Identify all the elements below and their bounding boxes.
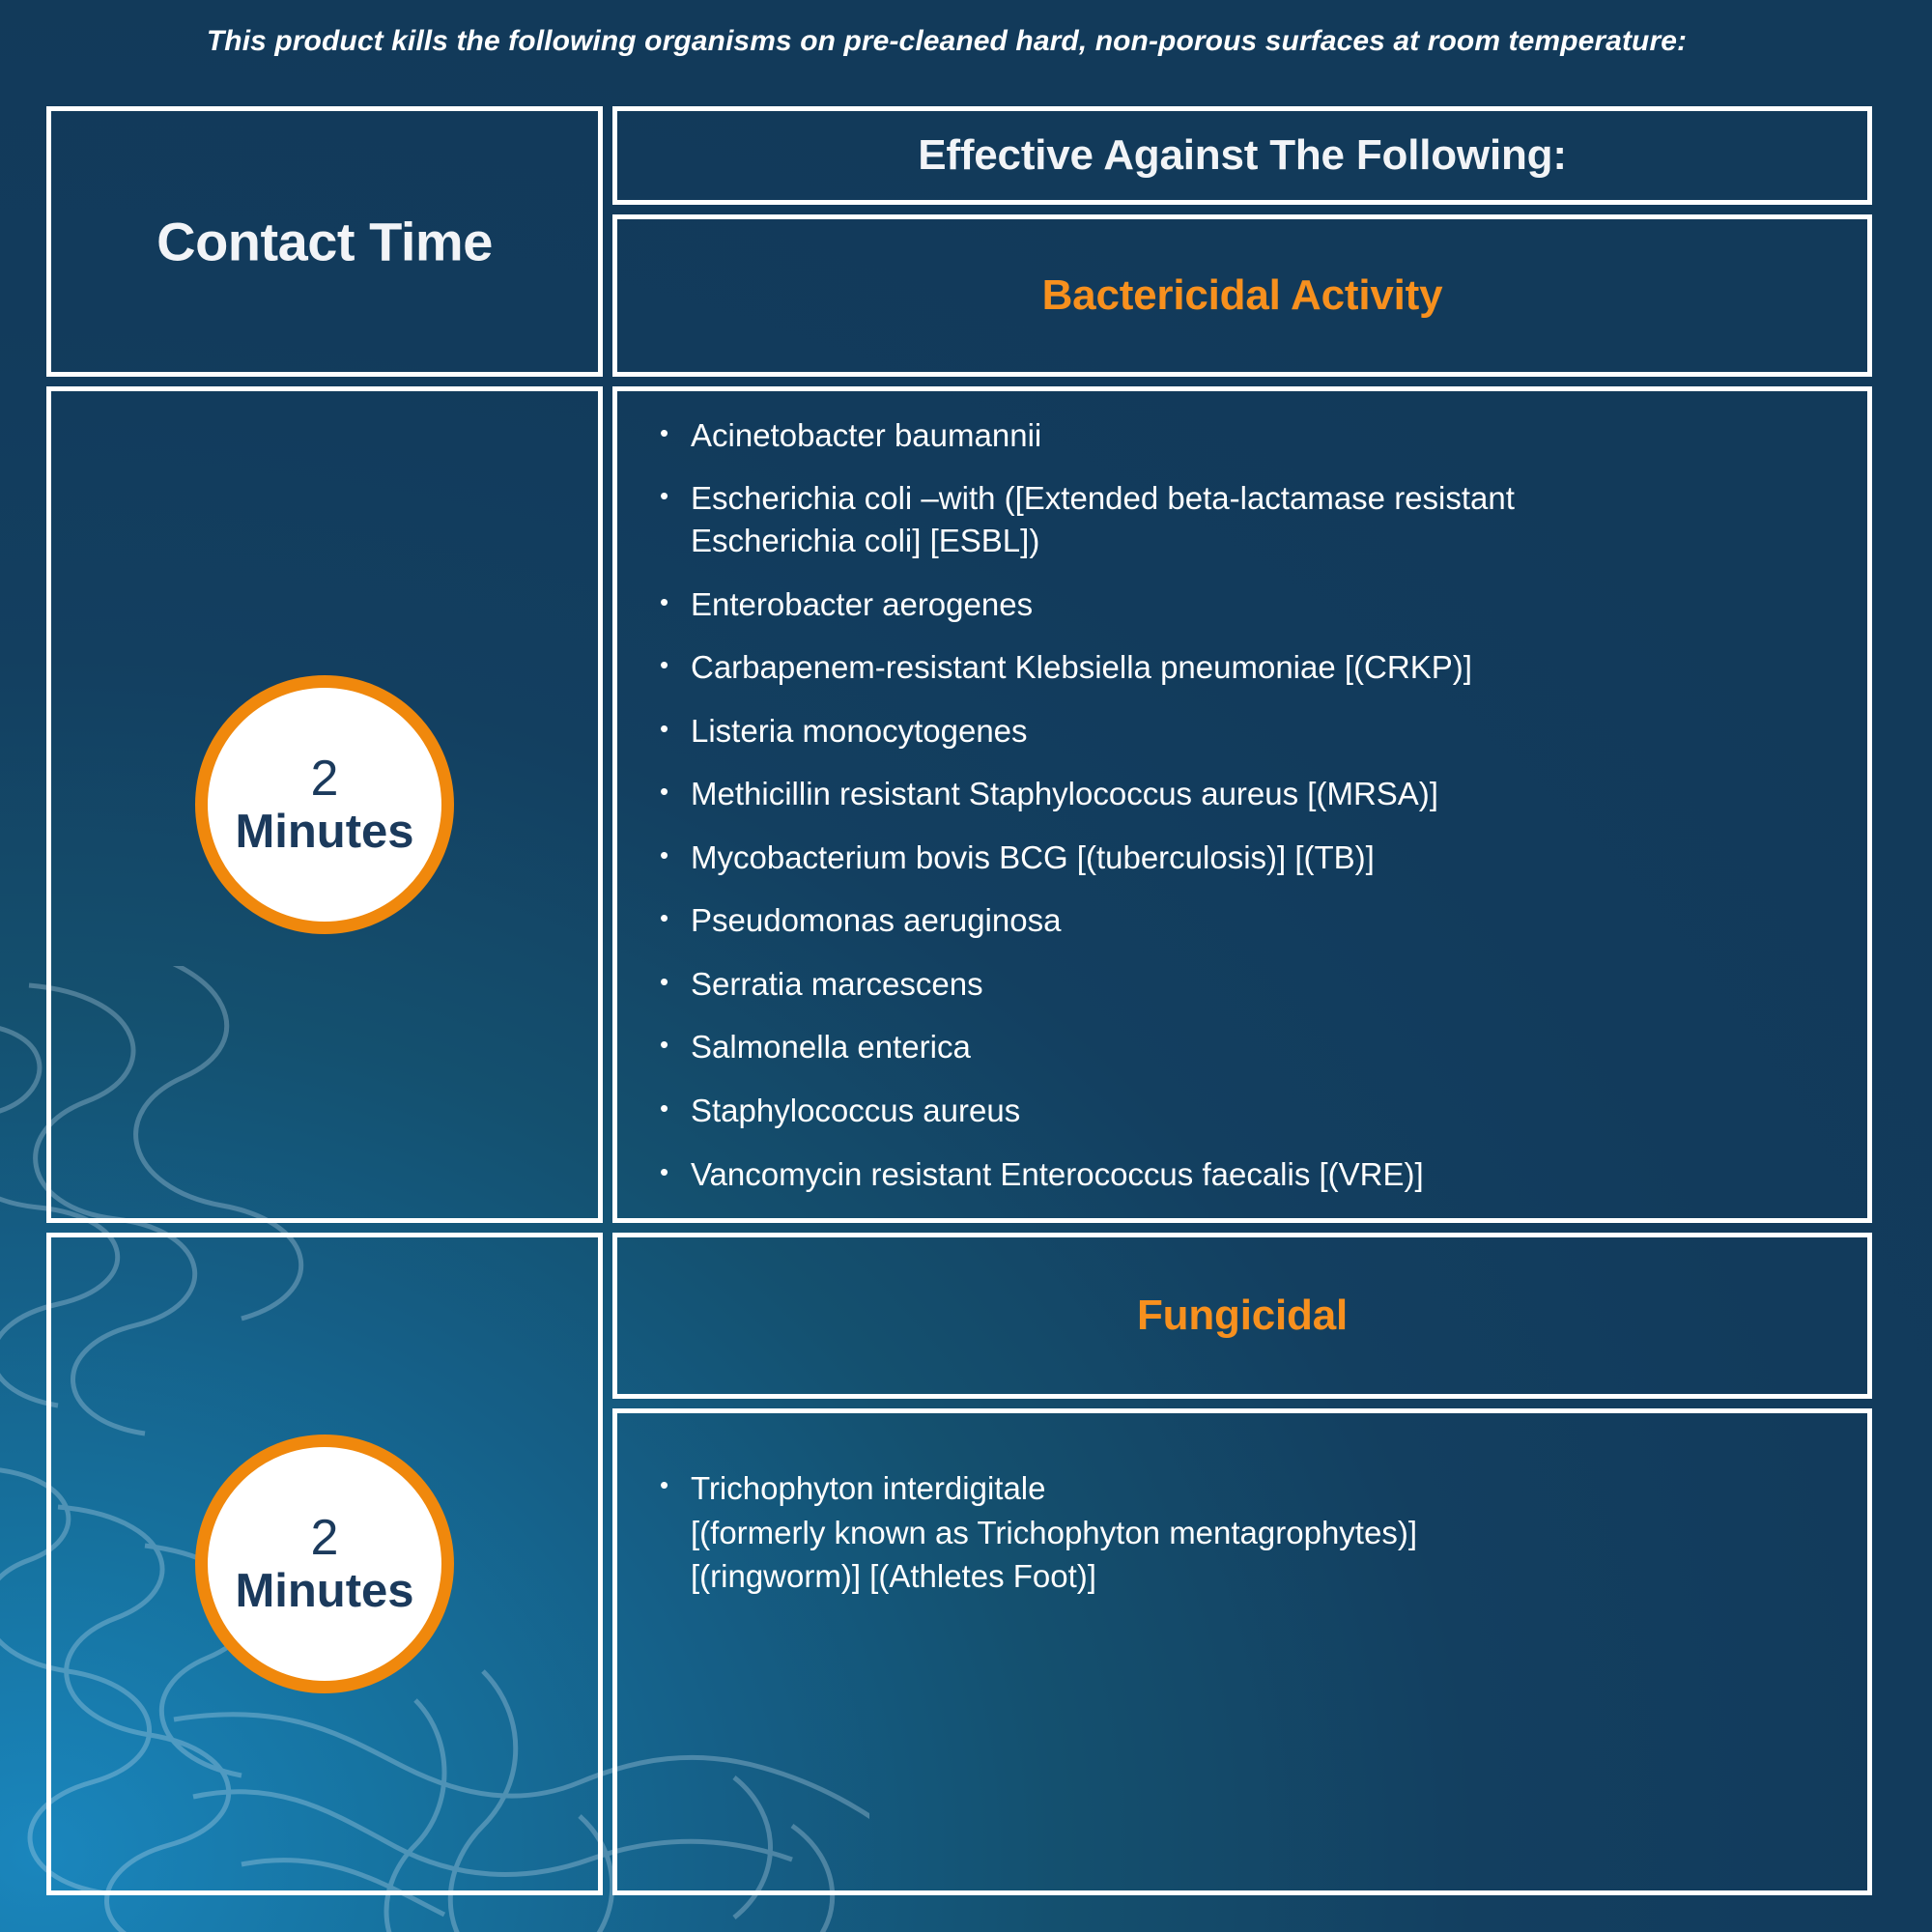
- organism-list-item: Enterobacter aerogenes: [652, 583, 1846, 626]
- fungicidal-organism-list: Trichophyton interdigitale [(formerly kn…: [652, 1413, 1846, 1890]
- bactericidal-section-title: Bactericidal Activity: [617, 271, 1867, 320]
- organism-list-item: Staphylococcus aureus: [652, 1090, 1846, 1132]
- organism-list-item: Escherichia coli –with ([Extended beta-l…: [652, 477, 1846, 561]
- organism-list-item: Vancomycin resistant Enterococcus faecal…: [652, 1153, 1846, 1196]
- organism-list-item: Methicillin resistant Staphylococcus aur…: [652, 773, 1846, 815]
- effective-against-header-cell: Effective Against The Following:: [612, 106, 1872, 205]
- efficacy-table: Contact Time Effective Against The Follo…: [46, 106, 1872, 1895]
- contact-time-badge-bactericidal: 2 Minutes: [195, 675, 454, 934]
- badge-value: 2: [311, 753, 339, 805]
- organism-list-item: Pseudomonas aeruginosa: [652, 899, 1846, 942]
- organism-list-item: Listeria monocytogenes: [652, 710, 1846, 753]
- effective-against-header-label: Effective Against The Following:: [617, 131, 1867, 180]
- organism-list-item: Acinetobacter baumannii: [652, 414, 1846, 457]
- contact-time-badge-fungicidal: 2 Minutes: [195, 1435, 454, 1693]
- bactericidal-section-header-cell: Bactericidal Activity: [612, 214, 1872, 377]
- contact-time-cell-fungicidal: 2 Minutes: [46, 1233, 603, 1895]
- contact-time-cell-bactericidal: 2 Minutes: [46, 386, 603, 1223]
- badge-unit: Minutes: [235, 809, 413, 857]
- contact-time-header-cell: Contact Time: [46, 106, 603, 377]
- organism-list-item: Trichophyton interdigitale [(formerly kn…: [652, 1466, 1846, 1599]
- badge-value: 2: [311, 1513, 339, 1564]
- badge-unit: Minutes: [235, 1568, 413, 1616]
- contact-time-header-label: Contact Time: [51, 211, 598, 273]
- page-title: This product kills the following organis…: [0, 25, 1932, 58]
- fungicidal-section-header-cell: Fungicidal: [612, 1233, 1872, 1399]
- organism-list-item: Mycobacterium bovis BCG [(tuberculosis)]…: [652, 837, 1846, 879]
- bactericidal-organism-list: Acinetobacter baumanniiEscherichia coli …: [652, 391, 1846, 1218]
- fungicidal-section-title: Fungicidal: [617, 1292, 1867, 1340]
- organism-list-item: Serratia marcescens: [652, 963, 1846, 1006]
- organism-list-item: Salmonella enterica: [652, 1026, 1846, 1068]
- fungicidal-organisms-cell: Trichophyton interdigitale [(formerly kn…: [612, 1408, 1872, 1895]
- organism-list-item: Carbapenem-resistant Klebsiella pneumoni…: [652, 646, 1846, 689]
- bactericidal-organisms-cell: Acinetobacter baumanniiEscherichia coli …: [612, 386, 1872, 1223]
